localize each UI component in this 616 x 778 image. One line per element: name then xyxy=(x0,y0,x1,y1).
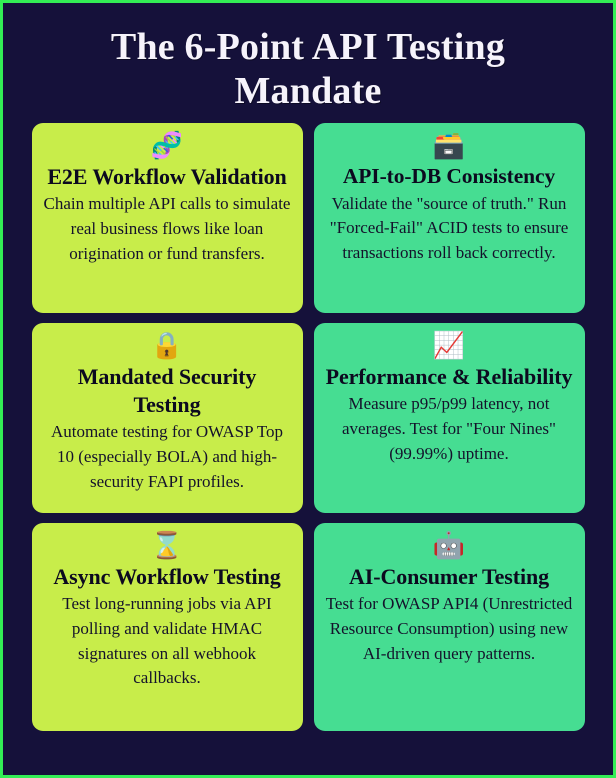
card-description: Test long-running jobs via API polling a… xyxy=(43,592,292,691)
hourglass-icon: ⌛ xyxy=(151,531,183,561)
robot-icon: 🤖 xyxy=(433,531,465,561)
card-title: Mandated Security Testing xyxy=(43,363,292,419)
page-title: The 6-Point API Testing Mandate xyxy=(49,25,567,113)
card-api-to-db-consistency[interactable]: 🗃️ API-to-DB Consistency Validate the "s… xyxy=(314,123,585,313)
card-title: API-to-DB Consistency xyxy=(343,163,555,191)
card-mandated-security-testing[interactable]: 🔒 Mandated Security Testing Automate tes… xyxy=(32,323,303,513)
card-description: Test for OWASP API4 (Unrestricted Resour… xyxy=(325,592,574,666)
lock-icon: 🔒 xyxy=(151,331,183,361)
card-title: Performance & Reliability xyxy=(326,363,573,391)
card-file-box-icon: 🗃️ xyxy=(433,131,465,161)
card-e2e-workflow-validation[interactable]: 🧬 E2E Workflow Validation Chain multiple… xyxy=(32,123,303,313)
card-title: E2E Workflow Validation xyxy=(47,163,286,191)
poster-canvas: The 6-Point API Testing Mandate 🧬 E2E Wo… xyxy=(0,0,616,778)
card-grid: 🧬 E2E Workflow Validation Chain multiple… xyxy=(3,123,613,731)
card-description: Automate testing for OWASP Top 10 (espec… xyxy=(43,420,292,494)
card-title: Async Workflow Testing xyxy=(53,563,280,591)
card-description: Chain multiple API calls to simulate rea… xyxy=(43,192,292,266)
card-description: Measure p95/p99 latency, not averages. T… xyxy=(325,392,574,466)
chart-increasing-icon: 📈 xyxy=(433,331,465,361)
card-description: Validate the "source of truth." Run "For… xyxy=(325,192,574,266)
card-performance-reliability[interactable]: 📈 Performance & Reliability Measure p95/… xyxy=(314,323,585,513)
card-async-workflow-testing[interactable]: ⌛ Async Workflow Testing Test long-runni… xyxy=(32,523,303,731)
dna-icon: 🧬 xyxy=(151,131,183,161)
card-ai-consumer-testing[interactable]: 🤖 AI-Consumer Testing Test for OWASP API… xyxy=(314,523,585,731)
poster-header: The 6-Point API Testing Mandate xyxy=(3,3,613,123)
card-title: AI-Consumer Testing xyxy=(349,563,549,591)
